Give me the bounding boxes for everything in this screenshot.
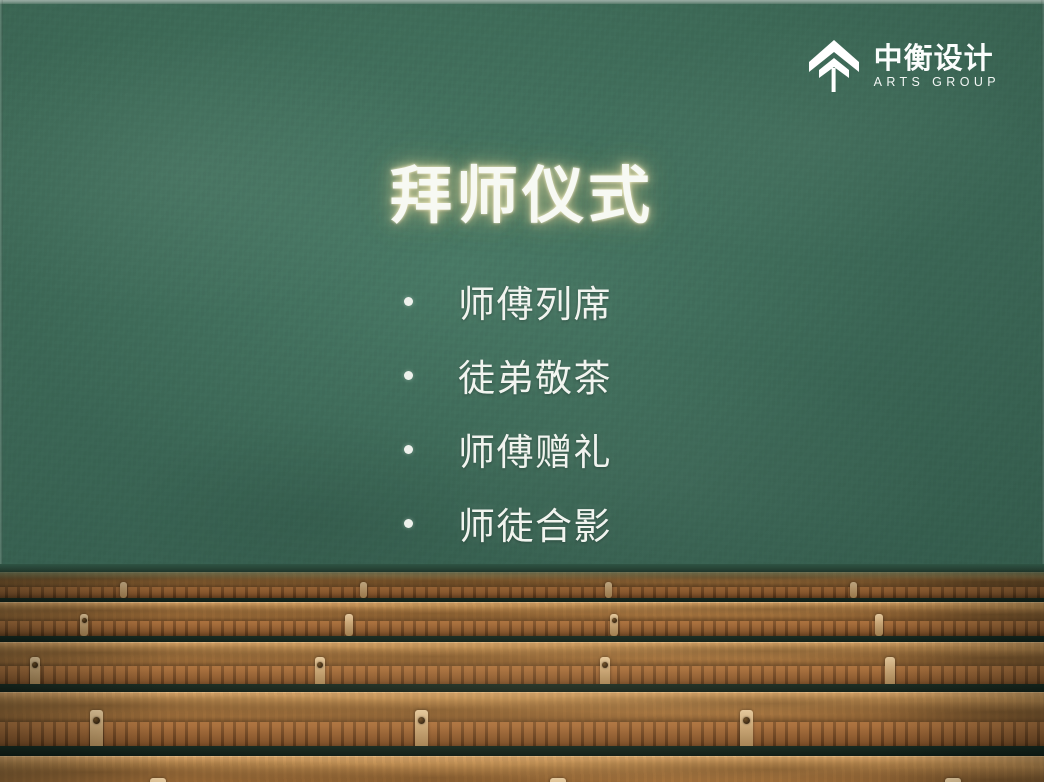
logo-name-cn: 中衡设计: [874, 43, 1000, 74]
seat-bracket: [90, 710, 103, 750]
seat-row: [0, 692, 1044, 750]
seat-bracket: [415, 710, 428, 750]
logo-name-en: ARTS GROUP: [874, 76, 1000, 89]
seat-row: [0, 602, 1044, 638]
bullet-dot-icon: [404, 297, 413, 306]
logo-text-block: 中衡设计 ARTS GROUP: [874, 43, 1000, 88]
seat-row: [0, 642, 1044, 688]
seat-bracket: [885, 657, 895, 687]
board-top-edge: [0, 0, 1044, 4]
seat-bracket: [850, 582, 857, 598]
seat-bracket: [550, 778, 566, 782]
seat-bolt: [743, 717, 750, 724]
seat-bracket: [945, 778, 961, 782]
seat-bolt: [93, 717, 100, 724]
presentation-slide: 中衡设计 ARTS GROUP 拜师仪式 师傅列席 徒弟敬茶 师傅赠礼 师徒合影: [0, 0, 1044, 782]
auditorium-seats-image: [0, 564, 1044, 782]
seat-row: [0, 756, 1044, 782]
seat-bolt: [602, 662, 608, 668]
list-item: 徒弟敬茶: [404, 338, 612, 412]
bullet-label: 师傅列席: [458, 274, 612, 328]
seat-bracket: [360, 582, 367, 598]
seat-bracket: [740, 710, 753, 750]
seat-row: [0, 572, 1044, 600]
bullet-dot-icon: [404, 445, 413, 454]
list-item: 师徒合影: [404, 486, 612, 560]
bullet-dot-icon: [404, 371, 413, 380]
seat-bracket: [120, 582, 127, 598]
slide-title: 拜师仪式: [0, 145, 1044, 235]
seat-bolt: [82, 618, 87, 623]
seat-bracket: [150, 778, 166, 782]
bullet-label: 师傅赠礼: [458, 422, 612, 476]
brand-logo: 中衡设计 ARTS GROUP: [807, 38, 1000, 94]
seat-bracket: [875, 614, 883, 636]
seat-bolt: [418, 717, 425, 724]
seat-bracket: [345, 614, 353, 636]
seat-back-cap: [0, 572, 1044, 587]
bullet-dot-icon: [404, 519, 413, 528]
bullet-label: 师徒合影: [458, 496, 612, 550]
list-item: 师傅列席: [404, 264, 612, 338]
seat-bolt: [612, 618, 617, 623]
list-item: 师傅赠礼: [404, 412, 612, 486]
seat-back-cap: [0, 692, 1044, 722]
seat-bolt: [317, 662, 323, 668]
seat-back-cap: [0, 602, 1044, 621]
bullet-label: 徒弟敬茶: [458, 348, 612, 402]
seat-bracket: [605, 582, 612, 598]
seat-bolt: [32, 662, 38, 668]
house-roof-icon: [807, 38, 861, 94]
bullet-list: 师傅列席 徒弟敬茶 师傅赠礼 师徒合影: [404, 264, 612, 560]
